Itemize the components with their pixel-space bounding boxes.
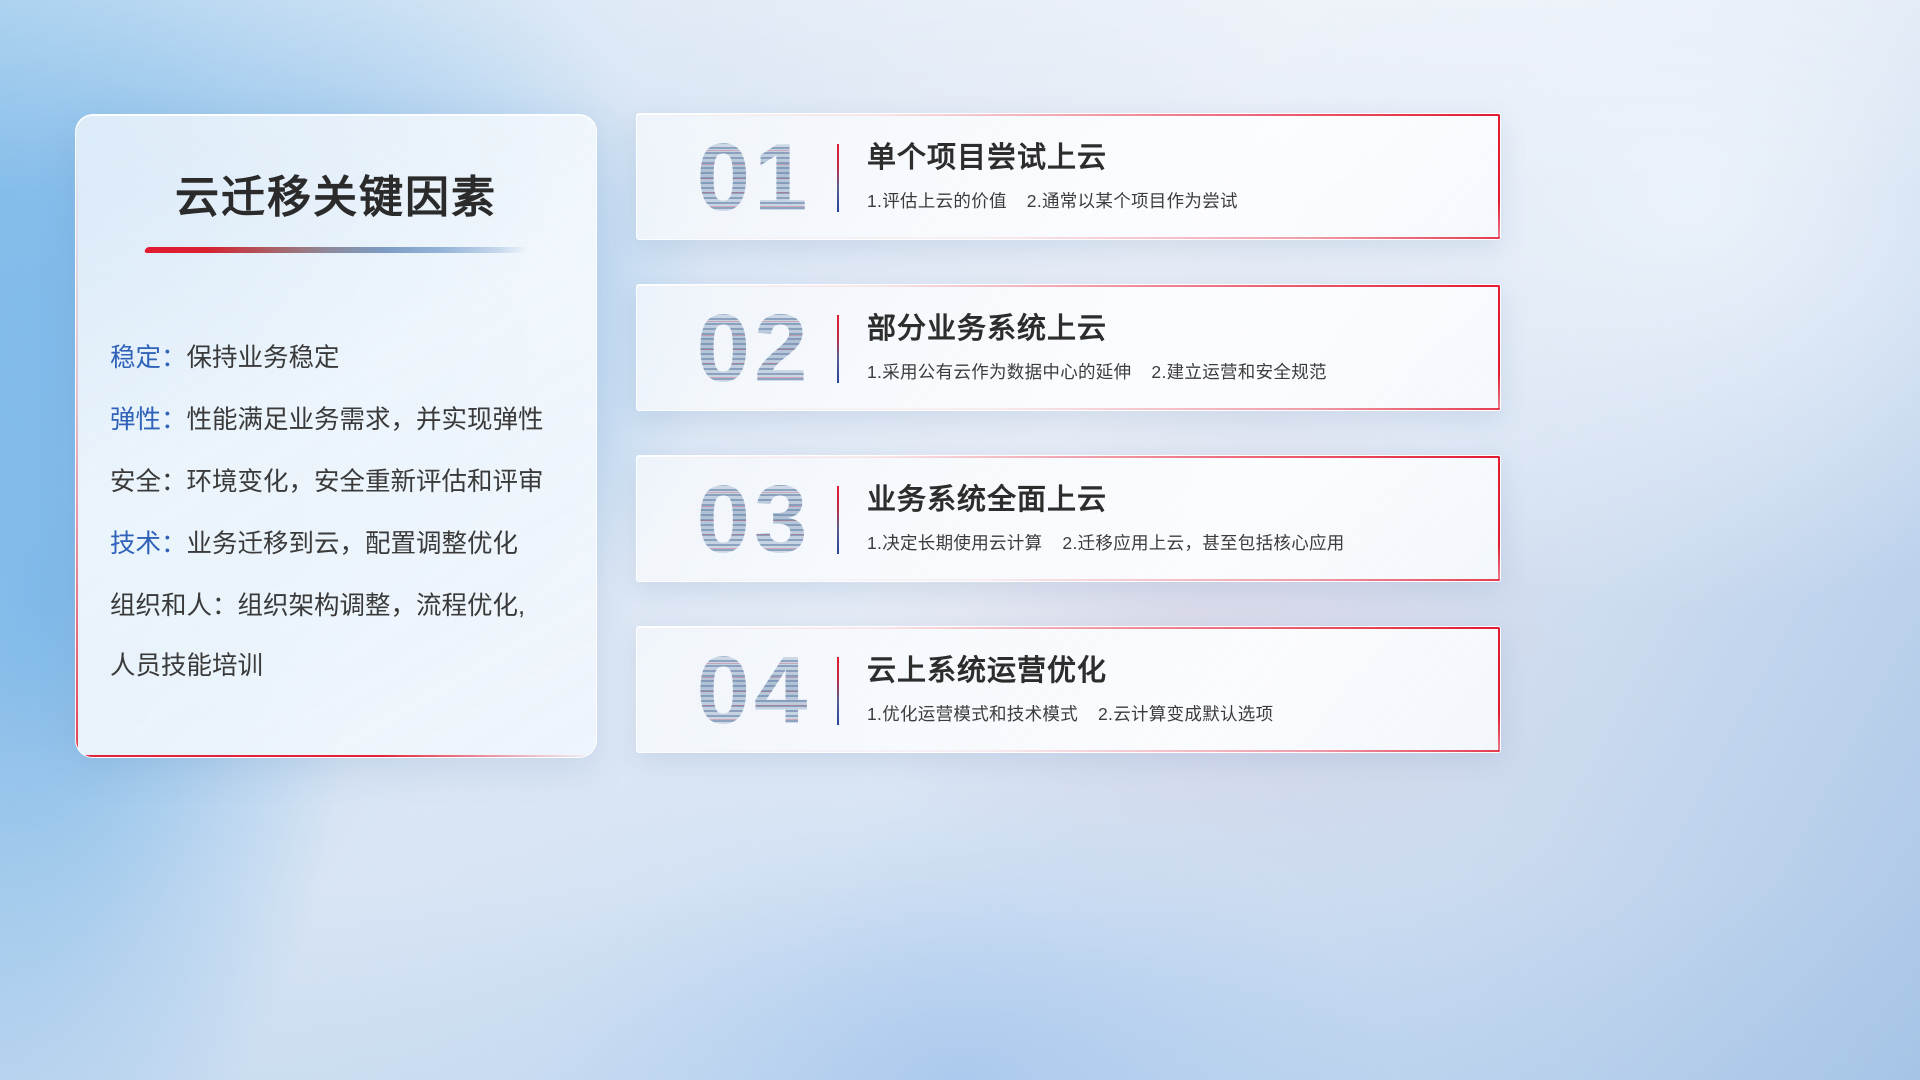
factor-value: 业务迁移到云，配置调整优化 xyxy=(187,530,519,558)
factor-value: 性能满足业务需求，并实现弹性 xyxy=(187,406,544,434)
list-item: 弹性：性能满足业务需求，并实现弹性 xyxy=(110,389,596,451)
factor-key: 安全： xyxy=(110,468,187,496)
title-underline-rule xyxy=(144,247,528,253)
factor-key: 稳定： xyxy=(110,344,187,372)
list-item: 稳定：保持业务稳定 xyxy=(110,327,596,389)
stage-card-01[interactable]: 01 01 单个项目尝试上云 1.评估上云的价值2.通常以某个项目作为尝试 xyxy=(636,113,1501,240)
card-bottom-accent xyxy=(637,408,1500,410)
card-title: 云上系统运营优化 xyxy=(867,650,1474,692)
card-bottom-accent xyxy=(637,237,1500,239)
card-description: 1.决定长期使用云计算2.迁移应用上云，甚至包括核心应用 xyxy=(867,530,1474,556)
card-description-part-1: 1.评估上云的价值 xyxy=(867,191,1007,211)
card-title: 业务系统全面上云 xyxy=(867,479,1474,521)
card-body: 单个项目尝试上云 1.评估上云的价值2.通常以某个项目作为尝试 xyxy=(867,137,1474,214)
card-description: 1.采用公有云作为数据中心的延伸2.建立运营和安全规范 xyxy=(867,359,1474,385)
factor-value: 组织架构调整，流程优化, xyxy=(238,592,526,620)
stage-card-02[interactable]: 02 02 部分业务系统上云 1.采用公有云作为数据中心的延伸2.建立运营和安全… xyxy=(636,284,1501,411)
card-divider-bar xyxy=(837,315,839,383)
factor-value: 保持业务稳定 xyxy=(187,344,340,372)
stage-number-tint: 01 xyxy=(659,122,849,234)
list-item: 技术：业务迁移到云，配置调整优化 xyxy=(110,513,596,575)
card-divider-bar xyxy=(837,144,839,212)
card-description-part-2: 2.迁移应用上云，甚至包括核心应用 xyxy=(1062,533,1344,553)
card-title: 部分业务系统上云 xyxy=(867,308,1474,350)
card-title: 单个项目尝试上云 xyxy=(867,137,1474,179)
list-item: 组织和人：组织架构调整，流程优化, xyxy=(110,575,596,637)
stage-card-03[interactable]: 03 03 业务系统全面上云 1.决定长期使用云计算2.迁移应用上云，甚至包括核… xyxy=(636,455,1501,582)
card-bottom-accent xyxy=(637,579,1500,581)
factor-key: 技术： xyxy=(110,530,187,558)
factor-key: 弹性： xyxy=(110,406,187,434)
card-bottom-accent xyxy=(637,750,1500,752)
factor-key: 组织和人： xyxy=(110,592,238,620)
card-divider-bar xyxy=(837,486,839,554)
stage-card-04[interactable]: 04 04 云上系统运营优化 1.优化运营模式和技术模式2.云计算变成默认选项 xyxy=(636,626,1501,753)
stage-card-list: 01 01 单个项目尝试上云 1.评估上云的价值2.通常以某个项目作为尝试 02… xyxy=(636,113,1501,797)
stage-number-tint: 03 xyxy=(659,464,849,576)
card-description: 1.优化运营模式和技术模式2.云计算变成默认选项 xyxy=(867,701,1474,727)
key-factors-panel: 云迁移关键因素 稳定：保持业务稳定 弹性：性能满足业务需求，并实现弹性 安全：环… xyxy=(75,114,597,758)
stage-number-tint: 04 xyxy=(659,635,849,747)
factor-list: 稳定：保持业务稳定 弹性：性能满足业务需求，并实现弹性 安全：环境变化，安全重新… xyxy=(110,327,596,697)
factor-value: 环境变化，安全重新评估和评审 xyxy=(187,468,544,496)
card-body: 业务系统全面上云 1.决定长期使用云计算2.迁移应用上云，甚至包括核心应用 xyxy=(867,479,1474,556)
card-description-part-2: 2.建立运营和安全规范 xyxy=(1151,362,1326,382)
factor-value: 人员技能培训 xyxy=(110,652,263,680)
card-description: 1.评估上云的价值2.通常以某个项目作为尝试 xyxy=(867,188,1474,214)
stage-number-tint: 02 xyxy=(659,293,849,405)
list-item: 安全：环境变化，安全重新评估和评审 xyxy=(110,451,596,513)
card-body: 部分业务系统上云 1.采用公有云作为数据中心的延伸2.建立运营和安全规范 xyxy=(867,308,1474,385)
card-description-part-2: 2.通常以某个项目作为尝试 xyxy=(1027,191,1238,211)
list-item: 人员技能培训 xyxy=(110,635,596,697)
card-divider-bar xyxy=(837,657,839,725)
card-body: 云上系统运营优化 1.优化运营模式和技术模式2.云计算变成默认选项 xyxy=(867,650,1474,727)
card-description-part-1: 1.采用公有云作为数据中心的延伸 xyxy=(867,362,1131,382)
slide-canvas: 云迁移关键因素 稳定：保持业务稳定 弹性：性能满足业务需求，并实现弹性 安全：环… xyxy=(0,0,1920,1080)
page-title: 云迁移关键因素 xyxy=(76,161,596,225)
card-description-part-2: 2.云计算变成默认选项 xyxy=(1098,704,1273,724)
card-description-part-1: 1.优化运营模式和技术模式 xyxy=(867,704,1078,724)
card-description-part-1: 1.决定长期使用云计算 xyxy=(867,533,1042,553)
